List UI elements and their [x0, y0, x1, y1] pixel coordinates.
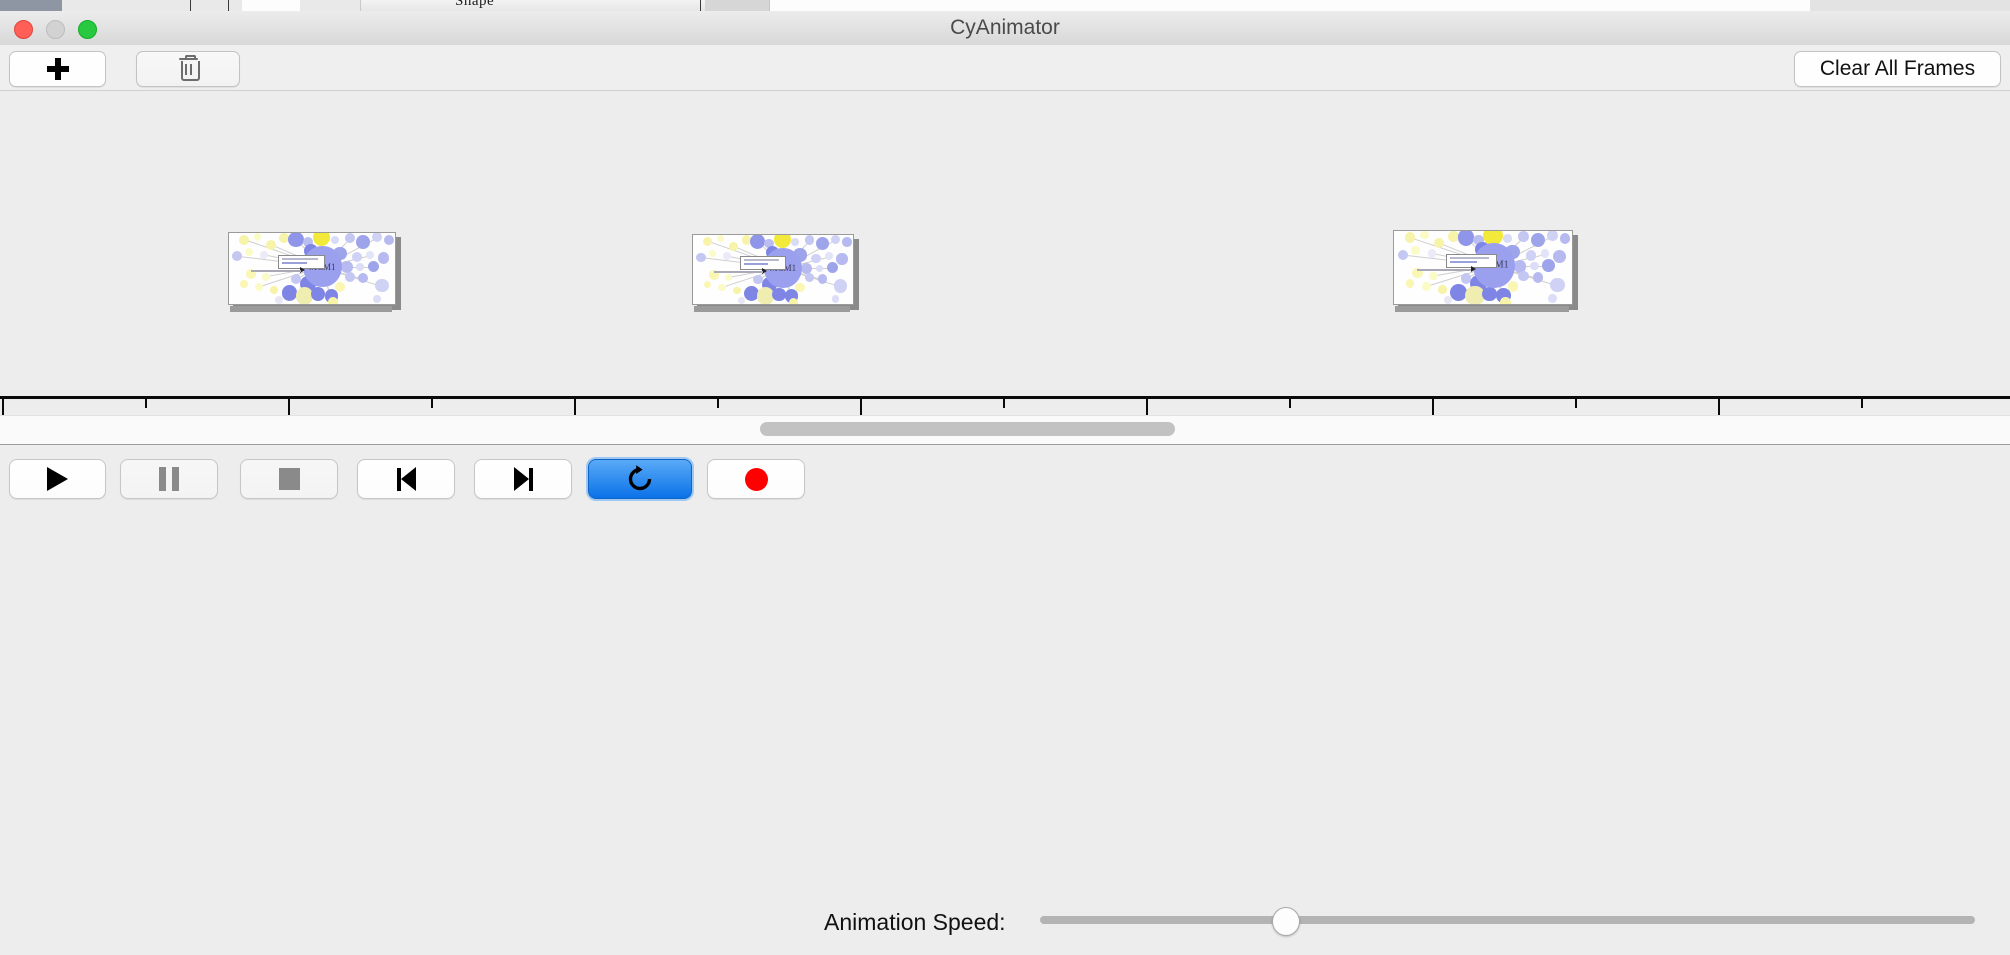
axis-tick-minor [1289, 399, 1291, 408]
axis-tick-major [288, 399, 290, 415]
network-node [232, 251, 242, 261]
network-node [311, 287, 325, 301]
animation-speed-slider-knob[interactable] [1272, 907, 1300, 936]
network-node [372, 232, 382, 242]
network-node [1422, 282, 1430, 290]
network-node [729, 242, 739, 252]
network-node [373, 295, 381, 303]
network-node [245, 248, 253, 256]
window-title: CyAnimator [0, 11, 2010, 45]
network-node [1444, 296, 1452, 304]
network-node [254, 233, 262, 241]
network-node [313, 232, 331, 246]
axis-tick-major [2, 399, 4, 415]
network-node [1541, 249, 1549, 257]
axis-tick-minor [1861, 399, 1863, 408]
background-window-strip: Shape [0, 0, 2010, 11]
network-node [1518, 271, 1529, 282]
timeline-frame-thumbnail[interactable]: MCM1 [692, 234, 854, 305]
cyanimator-window: Shape CyAnimator Clear All Frames MCM1MC… [0, 0, 2010, 510]
network-node [831, 235, 841, 245]
background-divider [700, 0, 701, 11]
network-node [270, 286, 278, 294]
background-segment [770, 0, 1810, 11]
network-node [1438, 285, 1446, 293]
playback-toolbar: Animation Speed: [0, 444, 2010, 511]
network-node [352, 252, 362, 262]
stop-button[interactable] [240, 459, 338, 499]
network-node [255, 283, 263, 291]
frame-toolbar: Clear All Frames [0, 45, 2010, 91]
background-segment [300, 0, 361, 11]
network-node [723, 252, 731, 260]
network-node [805, 273, 815, 283]
last-frame-button[interactable] [474, 459, 572, 499]
background-segment [1930, 0, 2010, 11]
frame-network-view: MCM1 [228, 232, 396, 305]
network-node [704, 281, 712, 289]
frame-base [1395, 306, 1569, 312]
network-caption [714, 271, 763, 273]
network-node [282, 285, 298, 301]
network-node [696, 253, 706, 263]
network-node [703, 237, 713, 247]
network-node [1553, 250, 1566, 263]
network-node [738, 297, 746, 305]
add-frame-button[interactable] [9, 51, 106, 87]
record-icon [745, 468, 768, 491]
network-node [1530, 262, 1538, 270]
network-node [709, 250, 717, 258]
network-node [811, 254, 821, 264]
network-node [240, 280, 248, 288]
network-node [818, 274, 828, 284]
network-node [1560, 233, 1571, 244]
skip-to-end-icon [514, 467, 533, 491]
network-node [1434, 238, 1445, 249]
clear-all-frames-button[interactable]: Clear All Frames [1794, 51, 2001, 87]
network-node [1548, 294, 1556, 302]
timeline-panel[interactable]: MCM1MCM1MCM1 12131415161718 Seconds [0, 91, 2010, 415]
network-node [1429, 272, 1437, 280]
background-segment [1810, 0, 1871, 11]
network-node [774, 234, 791, 248]
record-button[interactable] [707, 459, 805, 499]
network-node [366, 251, 374, 259]
frame-base [230, 306, 392, 312]
network-node [825, 252, 833, 260]
network-node [331, 236, 339, 244]
play-button[interactable] [9, 459, 106, 499]
axis-tick-major [1146, 399, 1148, 415]
axis-tick-minor [1575, 399, 1577, 408]
axis-tick-major [1432, 399, 1434, 415]
animation-speed-label: Animation Speed: [824, 889, 1006, 955]
background-segment [134, 0, 181, 11]
axis-tick-minor [1003, 399, 1005, 408]
first-frame-button[interactable] [357, 459, 455, 499]
network-node [356, 263, 364, 271]
axis-tick-minor [145, 399, 147, 408]
network-node [1406, 279, 1414, 287]
network-node [842, 237, 852, 247]
axis-tick-major [860, 399, 862, 415]
network-node [772, 288, 785, 301]
network-node [384, 235, 394, 245]
network-node [262, 273, 270, 281]
background-segment [242, 0, 300, 11]
network-node [1550, 278, 1565, 293]
network-node [1503, 234, 1511, 242]
background-segment [737, 0, 770, 11]
network-node [328, 297, 338, 305]
network-node [718, 284, 726, 292]
animation-speed-slider-track[interactable] [1040, 916, 1975, 924]
stop-icon [279, 468, 300, 490]
timeline-axis [0, 396, 2010, 399]
loop-icon [625, 464, 655, 494]
network-node [834, 279, 847, 292]
network-node [1526, 250, 1537, 261]
frame-network-view: MCM1 [1393, 230, 1573, 305]
network-caption [251, 270, 301, 272]
network-node [375, 279, 389, 293]
play-icon [47, 467, 68, 491]
network-node [1428, 249, 1436, 257]
timeline-frame-thumbnail[interactable]: MCM1 [228, 232, 396, 305]
network-caption [1417, 269, 1471, 271]
pause-icon [159, 467, 179, 491]
network-node [345, 272, 355, 282]
background-divider [228, 0, 229, 11]
background-selected-tab [0, 0, 62, 11]
network-node [816, 237, 829, 250]
network-node [805, 235, 815, 245]
network-node [1482, 287, 1497, 302]
network-node [335, 282, 345, 292]
frame-network-view: MCM1 [692, 234, 854, 305]
pause-button[interactable] [120, 459, 218, 499]
delete-frame-button[interactable] [136, 51, 240, 87]
axis-tick-minor [717, 399, 719, 408]
network-node [266, 240, 276, 250]
network-node [791, 238, 799, 246]
network-node [795, 283, 805, 293]
network-node [1518, 231, 1529, 242]
network-node [275, 296, 283, 304]
network-node [368, 261, 380, 273]
network-node [1547, 230, 1558, 241]
background-app-label: Shape [455, 0, 494, 10]
network-node [725, 274, 733, 282]
network-node [1411, 246, 1419, 254]
network-node [239, 235, 249, 245]
network-node [1508, 281, 1519, 292]
clear-all-frames-label: Clear All Frames [1820, 57, 1975, 81]
axis-tick-major [574, 399, 576, 415]
network-node [378, 252, 390, 264]
background-segment [705, 0, 738, 11]
timeline-frame-thumbnail[interactable]: MCM1 [1393, 230, 1573, 305]
plus-icon [47, 58, 69, 80]
frame-base [694, 306, 850, 312]
network-node [345, 233, 355, 243]
timeline-scrollbar-thumb[interactable] [760, 422, 1175, 436]
skip-to-start-icon [397, 467, 416, 491]
axis-tick-major [1718, 399, 1720, 415]
network-node [1542, 259, 1555, 272]
network-node [717, 235, 725, 243]
network-node [733, 287, 741, 295]
network-node [1531, 233, 1546, 248]
timeline-scrollbar-track[interactable] [0, 415, 2010, 445]
network-node [789, 298, 799, 305]
axis-tick-minor [431, 399, 433, 408]
loop-button[interactable] [588, 459, 692, 499]
trash-icon [179, 58, 198, 80]
network-node [1405, 232, 1416, 243]
network-node [816, 265, 824, 273]
network-node [1398, 250, 1409, 261]
network-node [827, 262, 838, 273]
network-node [260, 251, 268, 259]
background-segment [62, 0, 135, 11]
background-divider [190, 0, 191, 11]
title-bar: CyAnimator [0, 11, 2010, 46]
network-node [832, 295, 840, 303]
network-node [836, 253, 847, 264]
network-node [1533, 272, 1544, 283]
network-node [356, 235, 370, 249]
network-node [1420, 231, 1428, 239]
background-segment [1870, 0, 1931, 11]
network-node [1500, 297, 1511, 305]
